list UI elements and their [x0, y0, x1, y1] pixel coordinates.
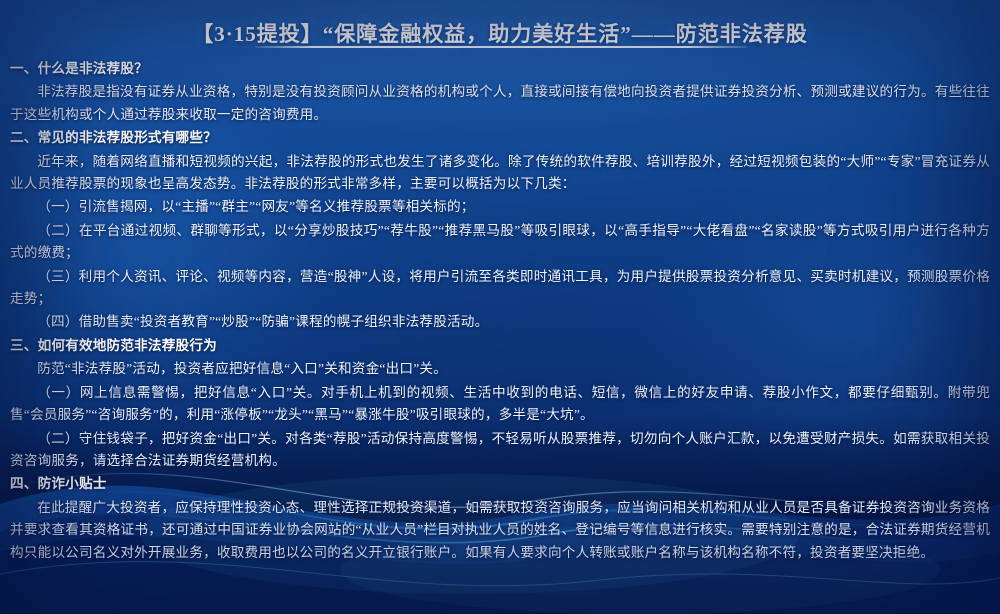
list-item-3-2: （二）守住钱袋子，把好资金“出口”关。对各类“荐股”活动保持高度警惕，不轻易听从… — [10, 428, 990, 473]
list-item-2-1: （一）引流售揭网，以“主播”“群主”“网友”等名义推荐股票等相关标的； — [10, 196, 990, 218]
list-item-3-1: （一）网上信息需警惕，把好信息“入口”关。对手机上机到的视频、生活中收到的电话、… — [10, 382, 990, 427]
paragraph-3: 防范“非法荐股”活动，投资者应把好信息“入口”关和资金“出口”关。 — [10, 358, 990, 380]
section-heading-2: 二、常见的非法荐股形式有哪些？ — [10, 127, 990, 149]
list-item-2-2: （二）在平台通过视频、群聊等形式，以“分享炒股技巧”“荐牛股”“推荐黑马股”等吸… — [10, 220, 990, 265]
paragraph-1: 非法荐股是指没有证券从业资格，特别是没有投资顾问从业资格的机构或个人，直接或间接… — [10, 81, 990, 126]
section-heading-1: 一、什么是非法荐股？ — [10, 58, 990, 80]
page-title: 【3·15提投】“保障金融权益，助力美好生活”——防范非法荐股 — [0, 18, 1000, 48]
paragraph-4: 在此提醒广大投资者，应保持理性投资心态、理性选择正规投资渠道，如需获取投资咨询服… — [10, 497, 990, 564]
poster-content: 【3·15提投】“保障金融权益，助力美好生活”——防范非法荐股 一、什么是非法荐… — [0, 0, 1000, 614]
poster-root: 【3·15提投】“保障金融权益，助力美好生活”——防范非法荐股 一、什么是非法荐… — [0, 0, 1000, 614]
title-underline — [255, 46, 747, 48]
article-body: 一、什么是非法荐股？ 非法荐股是指没有证券从业资格，特别是没有投资顾问从业资格的… — [10, 58, 990, 565]
list-item-2-3: （三）利用个人资讯、评论、视频等内容，营造“股神”人设，将用户引流至各类即时通讯… — [10, 266, 990, 311]
list-item-2-4: （四）借助售卖“投资者教育”“炒股”“防骗”课程的幌子组织非法荐股活动。 — [10, 311, 990, 333]
paragraph-2: 近年来，随着网络直播和短视频的兴起，非法荐股的形式也发生了诸多变化。除了传统的软… — [10, 151, 990, 196]
section-heading-4: 四、防诈小贴士 — [10, 473, 990, 495]
section-heading-3: 三、如何有效地防范非法荐股行为 — [10, 335, 990, 357]
